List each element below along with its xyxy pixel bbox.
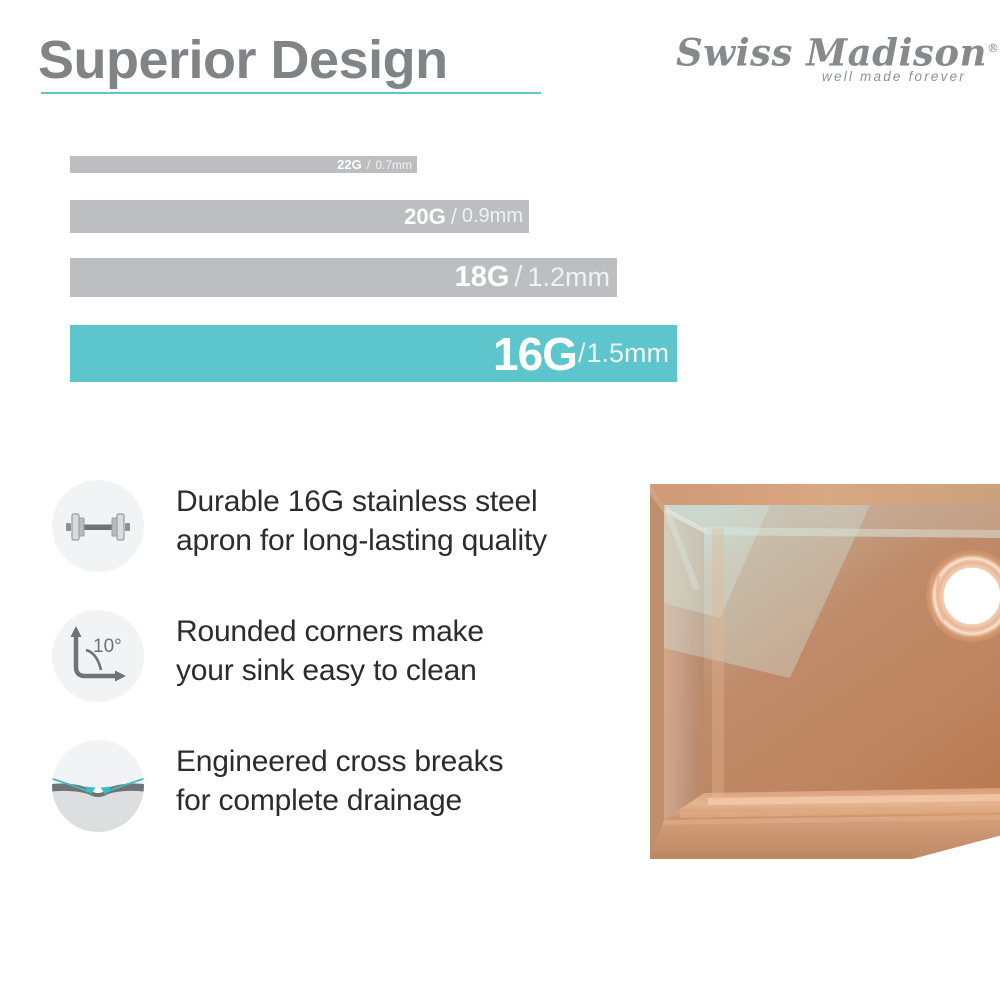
chart-bar-20g: 20G / 0.9mm <box>70 200 529 233</box>
chart-bar-22g: 22G / 0.7mm <box>70 156 417 173</box>
bar-gauge-label: 20G <box>404 204 446 230</box>
feature-item-drainage: Engineered cross breaks for complete dra… <box>52 732 612 862</box>
feature-line-2: your sink easy to clean <box>176 651 606 690</box>
bar-thickness-label: 1.2mm <box>527 262 610 293</box>
page-title: Superior Design <box>38 22 448 98</box>
bar-gauge-label: 16G <box>493 327 577 381</box>
feature-line-1: Engineered cross breaks <box>176 742 606 781</box>
bar-separator: / <box>362 157 376 172</box>
bar-separator: / <box>577 338 587 369</box>
corner-angle-icon: 10° <box>52 610 144 702</box>
feature-line-2: for complete drainage <box>176 781 606 820</box>
chart-bar-18g: 18G / 1.2mm <box>70 258 617 297</box>
bar-separator: / <box>509 261 527 294</box>
bar-thickness-label: 1.5mm <box>586 338 669 369</box>
cross-break-drainage-icon <box>52 740 144 832</box>
svg-text:10°: 10° <box>93 636 122 657</box>
chart-bar-16g-highlighted: 16G / 1.5mm <box>70 325 677 382</box>
bar-separator: / <box>446 204 462 230</box>
feature-item-durability: Durable 16G stainless steel apron for lo… <box>52 472 612 602</box>
feature-line-2: apron for long-lasting quality <box>176 521 606 560</box>
feature-text-drainage: Engineered cross breaks for complete dra… <box>176 742 606 820</box>
copper-farmhouse-apron-sink-image <box>620 468 1000 898</box>
feature-item-rounded-corners: 10° Rounded corners make your sink easy … <box>52 602 612 732</box>
bar-gauge-label: 22G <box>337 157 362 172</box>
bar-thickness-label: 0.7mm <box>375 158 412 172</box>
feature-text-durability: Durable 16G stainless steel apron for lo… <box>176 482 606 560</box>
bar-gauge-label: 18G <box>455 261 510 294</box>
feature-line-1: Durable 16G stainless steel <box>176 482 606 521</box>
feature-line-1: Rounded corners make <box>176 612 606 651</box>
bar-thickness-label: 0.9mm <box>462 205 523 228</box>
feature-text-rounded-corners: Rounded corners make your sink easy to c… <box>176 612 606 690</box>
dumbbell-icon <box>52 480 144 572</box>
product-feature-page: Superior Design Swiss Madison® well made… <box>0 0 1000 1000</box>
feature-list: Durable 16G stainless steel apron for lo… <box>52 472 612 862</box>
